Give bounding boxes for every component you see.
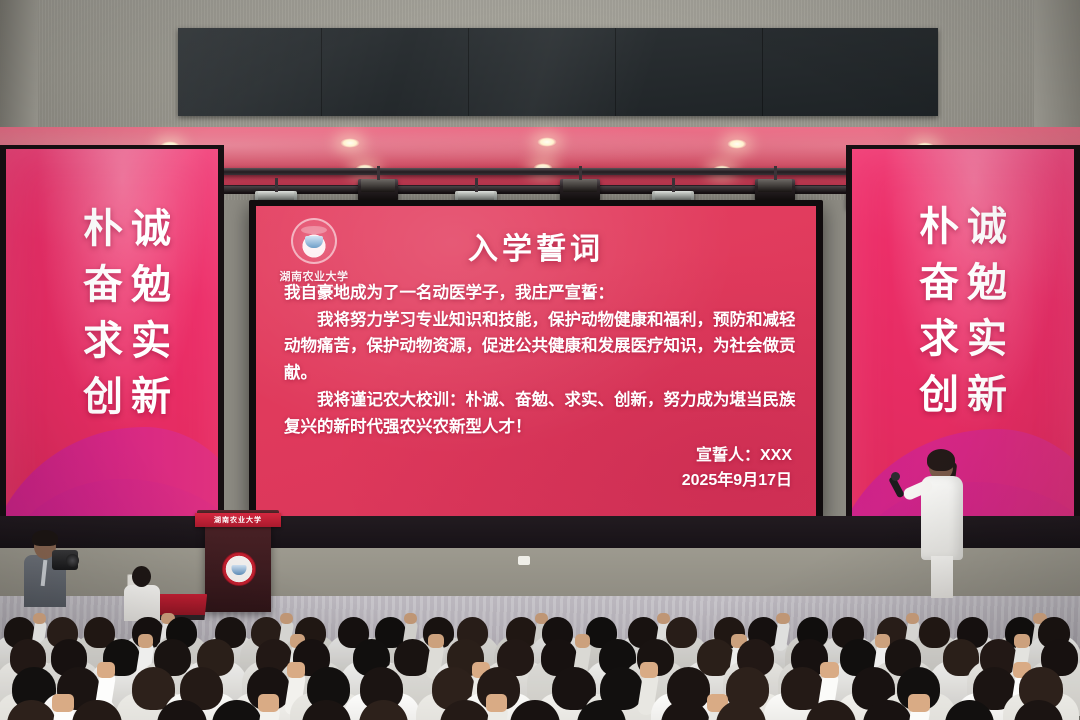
audience-member: [56, 668, 138, 720]
spotlight-icon: [358, 178, 398, 201]
oath-paragraph-1: 我自豪地成为了一名动医学子，我庄严宣誓：: [284, 280, 796, 307]
audience-member: [846, 668, 928, 720]
trousers: [931, 556, 953, 598]
hair: [32, 530, 58, 546]
audience-head: [863, 700, 913, 720]
dark-wall-panel: [178, 28, 938, 116]
hair: [927, 449, 955, 471]
audience-head: [72, 700, 122, 720]
left-led-panel: 朴奋求创 诚勉实新: [6, 149, 218, 524]
audience-head: [7, 700, 57, 720]
motto-column-2: 诚勉实新: [126, 207, 168, 431]
raised-fist: [258, 694, 279, 713]
microphone-head-icon: [891, 472, 900, 481]
photographer-person: [20, 530, 80, 608]
motto-column-2: 诚勉实新: [962, 205, 1004, 429]
motto-column-1: 朴奋求创: [78, 207, 120, 431]
audience-head: [1014, 700, 1064, 720]
audience-head: [716, 700, 766, 720]
audience-member: [700, 668, 782, 720]
oath-signature-block: 宣誓人：XXX 2025年9月17日: [682, 444, 792, 494]
audience-head: [577, 700, 627, 720]
auditorium-photo: 朴奋求创 诚勉实新 朴奋求创 诚勉实新 湖南农业大学 HUNAN AGRICUL…: [0, 0, 1080, 720]
audience-member: [998, 668, 1080, 720]
speaker-person: [915, 452, 973, 602]
motto-column-1: 朴奋求创: [914, 205, 956, 429]
downlight-icon: [727, 139, 747, 149]
downlight-icon: [340, 138, 360, 148]
podium-banner: 湖南农业大学: [195, 513, 281, 527]
right-panel-motto: 朴奋求创 诚勉实新: [914, 205, 1004, 429]
audience-head: [440, 700, 490, 720]
oath-title: 入学誓词: [256, 224, 816, 268]
main-led-screen: 湖南农业大学 HUNAN AGRICULTURAL UNIVERSITY 入学誓…: [256, 206, 816, 516]
camera-lens-icon: [66, 554, 79, 567]
audience-head: [359, 700, 409, 720]
audience-member: [196, 668, 278, 720]
head: [132, 566, 151, 587]
oath-date: 2025年9月17日: [682, 469, 792, 494]
spotlight-icon: [755, 178, 795, 201]
audience-crowd: [0, 600, 1080, 720]
left-panel-motto: 朴奋求创 诚勉实新: [78, 207, 168, 431]
university-crest-icon: [222, 552, 256, 586]
raised-fist: [908, 694, 929, 713]
audience-head: [212, 700, 262, 720]
downlight-icon: [537, 137, 557, 147]
audience-head: [510, 700, 560, 720]
oath-paragraph-2: 我将努力学习专业知识和技能，保护动物健康和福利，预防和减轻动物痛苦，保护动物资源…: [284, 307, 796, 387]
oath-signature: 宣誓人：XXX: [682, 444, 792, 469]
oath-paragraph-3: 我将谨记农大校训：朴诚、奋勉、求实、创新，努力成为堪当民族复兴的新时代强农兴农新…: [284, 387, 796, 440]
audience-member: [343, 668, 425, 720]
audience-member: [561, 668, 643, 720]
spotlight-icon: [560, 178, 600, 201]
audience-head: [945, 700, 995, 720]
oath-body: 我自豪地成为了一名动医学子，我庄严宣誓： 我将努力学习专业知识和技能，保护动物健…: [284, 280, 796, 440]
lighting-truss: [108, 168, 974, 175]
wall-socket-icon: [518, 556, 530, 565]
